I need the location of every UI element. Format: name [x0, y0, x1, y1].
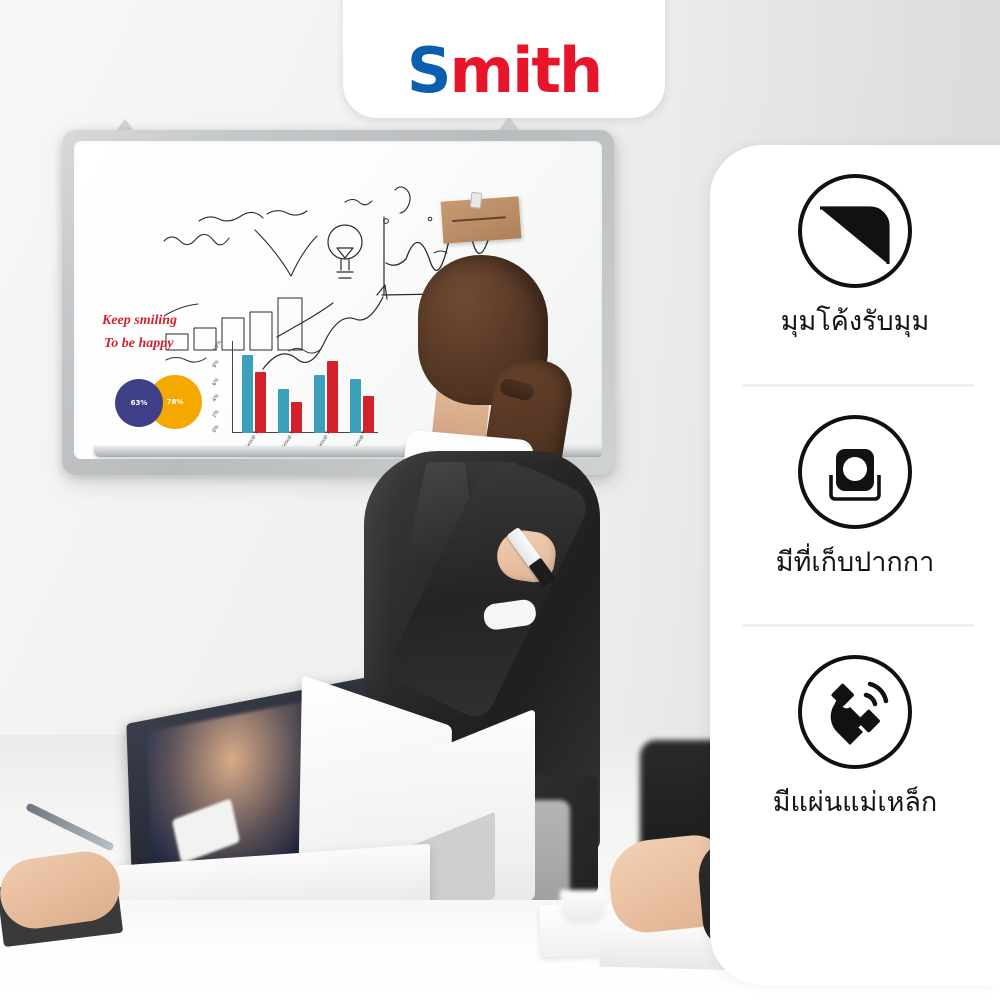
whiteboard-red-text-line2: To be happy	[104, 336, 173, 352]
bar-s1-c3	[314, 375, 325, 433]
note-scribble	[452, 216, 506, 222]
product-marketing-image: Keep smiling To be happy 78% 63%	[0, 0, 1000, 1000]
feature-panel: มุมโค้งรับมุม มีที่เก็บปากกา	[710, 145, 1000, 985]
bar-s1-c1	[242, 355, 253, 433]
presenter-shirt-cuff	[482, 598, 537, 631]
whiteboard-red-text-line1: Keep smiling	[102, 313, 177, 329]
bar-s2-c2	[291, 402, 302, 433]
note-clip-icon	[470, 192, 483, 209]
sticky-note	[441, 196, 522, 243]
feature-item-rounded-corner: มุมโค้งรับมุม	[710, 169, 1000, 339]
bar-s1-c2	[278, 389, 289, 433]
feature-label-pen-tray: มีที่เก็บปากกา	[710, 546, 1000, 580]
rounded-corner-icon	[793, 169, 917, 293]
feature-item-magnetic: มีแผ่นแม่เหล็ก	[710, 650, 1000, 820]
brand-logo-panel: Smith	[343, 0, 665, 118]
brand-logo: Smith	[407, 40, 601, 102]
brand-logo-rest: mith	[450, 34, 602, 107]
venn-circle-left: 63%	[115, 379, 163, 427]
magnet-icon	[793, 650, 917, 774]
feature-label-rounded-corner: มุมโค้งรับมุม	[710, 305, 1000, 339]
bar-s2-c1	[255, 372, 266, 433]
chart-y-axis	[232, 341, 233, 433]
feature-divider-1	[742, 384, 974, 387]
cup	[560, 890, 606, 924]
chart-ytick-5: 10%	[212, 340, 223, 353]
feature-label-magnetic: มีแผ่นแม่เหล็ก	[710, 786, 1000, 820]
feature-item-pen-tray: มีที่เก็บปากกา	[710, 410, 1000, 580]
pen-tray-icon	[793, 410, 917, 534]
brand-logo-initial: S	[407, 34, 450, 107]
feature-divider-2	[742, 624, 974, 627]
